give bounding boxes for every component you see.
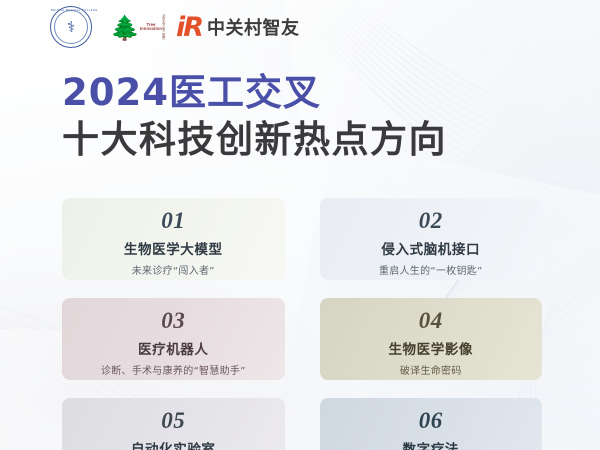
topic-card-04[interactable]: 04 生物医学影像 破译生命密码 bbox=[320, 298, 543, 380]
zhongguancun-zhiyou-logo: iR 中关村智友 bbox=[176, 14, 300, 41]
zhongguancun-zhiyou-label: 中关村智友 bbox=[207, 14, 300, 40]
card-subtitle: 诊断、手术与康养的“智慧助手” bbox=[62, 362, 285, 377]
card-number: 02 bbox=[320, 209, 543, 232]
card-title: 侵入式脑机接口 bbox=[320, 238, 543, 258]
card-title: 自动化实验室 bbox=[62, 438, 285, 450]
topic-card-grid: 01 生物医学大模型 未来诊疗“闯入者” 02 侵入式脑机接口 重启人生的“一枚… bbox=[62, 198, 542, 450]
caduceus-icon: ⚕ bbox=[67, 20, 75, 35]
card-number: 04 bbox=[320, 309, 543, 332]
ir-mark-icon: iR bbox=[176, 14, 202, 41]
card-title: 生物医学大模型 bbox=[62, 238, 285, 258]
card-subtitle: 未来诊疗“闯入者” bbox=[62, 262, 285, 277]
card-number: 01 bbox=[62, 209, 285, 232]
card-subtitle: 破译生命密码 bbox=[320, 362, 543, 377]
tree-logo-en-text: Tree Innovation bbox=[140, 23, 162, 31]
card-title: 生物医学影像 bbox=[320, 338, 543, 358]
card-title: 数字疗法 bbox=[320, 438, 543, 450]
title-line-1: 2024医工交叉 bbox=[62, 74, 447, 113]
seal-ring-text: BEIJING MEDICAL COLLEGE bbox=[51, 9, 91, 12]
card-number: 06 bbox=[320, 409, 543, 432]
card-number: 05 bbox=[62, 409, 285, 432]
topic-card-06[interactable]: 06 数字疗法 bbox=[320, 398, 543, 450]
tree-innovation-logo: 🌲 Tree Innovation 北京大学第三医院 bbox=[110, 14, 158, 41]
tree-icon: 🌲 bbox=[110, 16, 140, 40]
logo-bar: BEIJING MEDICAL COLLEGE ⚕ 🌲 Tree Innovat… bbox=[50, 6, 300, 48]
poster-canvas: BEIJING MEDICAL COLLEGE ⚕ 🌲 Tree Innovat… bbox=[0, 0, 600, 450]
university-seal-icon: BEIJING MEDICAL COLLEGE ⚕ bbox=[50, 6, 92, 48]
page-title: 2024医工交叉 十大科技创新热点方向 bbox=[62, 74, 447, 162]
tree-logo-cn-text: 北京大学第三医院 bbox=[162, 15, 166, 41]
card-title: 医疗机器人 bbox=[62, 338, 285, 358]
card-subtitle: 重启人生的“一枚钥匙” bbox=[320, 262, 543, 277]
topic-card-03[interactable]: 03 医疗机器人 诊断、手术与康养的“智慧助手” bbox=[62, 298, 285, 380]
topic-card-02[interactable]: 02 侵入式脑机接口 重启人生的“一枚钥匙” bbox=[320, 198, 543, 280]
topic-card-01[interactable]: 01 生物医学大模型 未来诊疗“闯入者” bbox=[62, 198, 285, 280]
topic-card-05[interactable]: 05 自动化实验室 bbox=[62, 398, 285, 450]
card-number: 03 bbox=[62, 309, 285, 332]
university-seal-logo: BEIJING MEDICAL COLLEGE ⚕ bbox=[50, 6, 92, 48]
title-line-2: 十大科技创新热点方向 bbox=[62, 118, 447, 162]
